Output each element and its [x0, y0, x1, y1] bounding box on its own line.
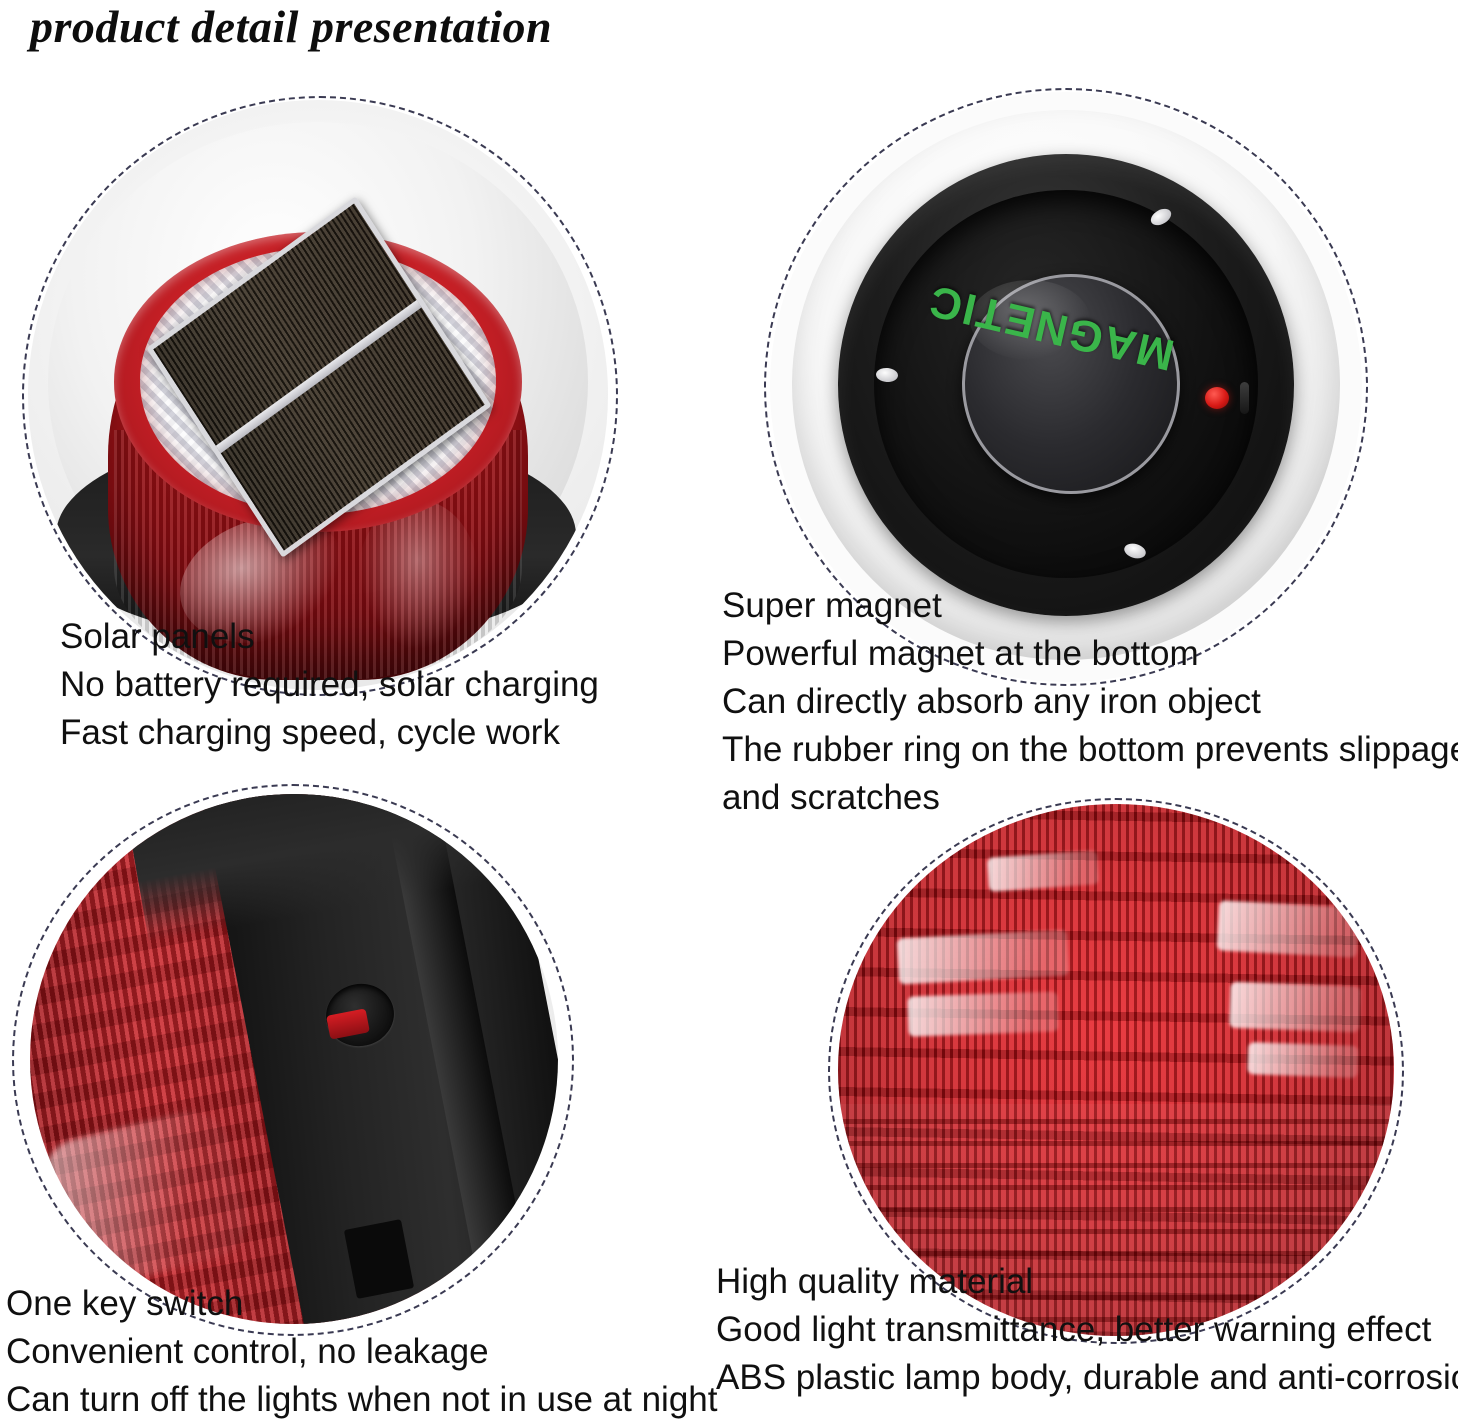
base-slot — [1240, 382, 1249, 414]
page-title: product detail presentation — [30, 2, 552, 52]
material-highlight — [1229, 982, 1361, 1033]
caption-line: Powerful magnet at the bottom — [722, 630, 1458, 678]
material-highlight — [897, 930, 1069, 985]
caption-heading: One key switch — [6, 1280, 717, 1328]
material-highlight — [1247, 1042, 1358, 1078]
switch-photo-clip — [30, 794, 558, 1324]
solar-panel-lamp-photo — [28, 100, 608, 690]
material-highlight — [1217, 900, 1359, 957]
caption-line: Can turn off the lights when not in use … — [6, 1376, 717, 1424]
caption-one-key-switch: One key switch Convenient control, no le… — [6, 1280, 717, 1424]
caption-line: Convenient control, no leakage — [6, 1328, 717, 1376]
caption-heading: Super magnet — [722, 582, 1458, 630]
caption-line: Fast charging speed, cycle work — [60, 709, 599, 757]
caption-heading: Solar panels — [60, 613, 599, 661]
material-photo-clip — [838, 804, 1394, 1336]
caption-super-magnet: Super magnet Powerful magnet at the bott… — [722, 582, 1458, 822]
switch-closeup-photo — [16, 786, 572, 1334]
caption-line: ABS plastic lamp body, durable and anti-… — [716, 1354, 1458, 1402]
caption-high-quality-material: High quality material Good light transmi… — [716, 1258, 1458, 1402]
caption-line: The rubber ring on the bottom prevents s… — [722, 726, 1458, 774]
caption-line: Can directly absorb any iron object — [722, 678, 1458, 726]
red-led-indicator — [1205, 387, 1229, 409]
caption-solar-panels: Solar panels No battery required, solar … — [60, 613, 599, 757]
caption-line: and scratches — [722, 774, 1458, 822]
material-highlight — [907, 991, 1058, 1036]
caption-line: No battery required, solar charging — [60, 661, 599, 709]
caption-line: Good light transmittance, better warning… — [716, 1306, 1458, 1354]
caption-heading: High quality material — [716, 1258, 1458, 1306]
